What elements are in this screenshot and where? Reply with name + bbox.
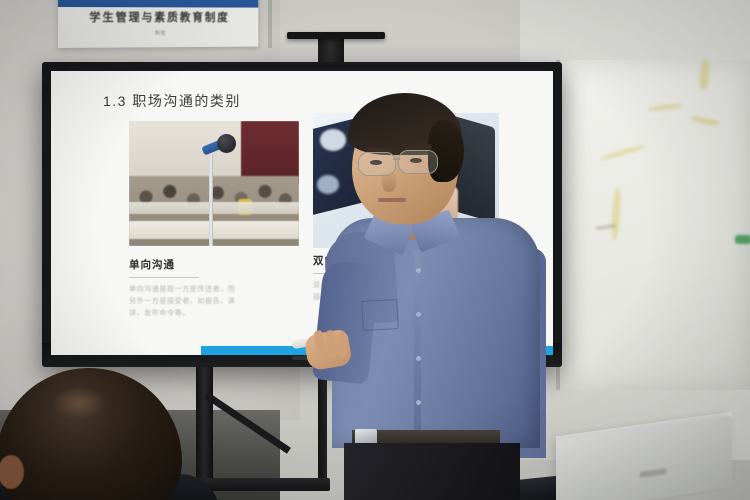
slide-accent-gap	[129, 346, 201, 355]
presenter-nose	[382, 170, 396, 192]
attendee-hair-crown	[52, 386, 106, 420]
camera-bar-icon	[287, 32, 385, 39]
caption-rule	[129, 277, 199, 278]
poster-subtitle: 制度	[58, 29, 258, 37]
poster-header-band	[58, 0, 258, 8]
presenter-mouth	[378, 198, 406, 202]
shirt-pocket	[361, 299, 399, 331]
photo-highlight	[317, 175, 339, 194]
caption-body: 单向沟通是指一方是传送者，而另外一方是接受者，如报告、演讲、发布命令等。	[129, 284, 237, 320]
slide-caption-one-way: 单向沟通 单向沟通是指一方是传送者，而另外一方是接受者，如报告、演讲、发布命令等…	[129, 257, 237, 320]
microphone-head-icon	[217, 134, 236, 153]
glasses-bridge-icon	[393, 158, 400, 160]
whiteboard-green-mark	[735, 235, 750, 244]
presenter-finger	[338, 332, 348, 358]
shirt-placket	[414, 250, 421, 436]
shirt-button	[416, 400, 421, 405]
photo-table-row	[129, 221, 299, 239]
tv-cart-leg	[318, 367, 327, 487]
shirt-button	[416, 312, 421, 317]
wall-poster: 学生管理与素质教育制度 制度	[58, 0, 258, 48]
caption-heading: 单向沟通	[129, 257, 237, 272]
presenter-trousers	[344, 443, 520, 500]
photo-scene: 学生管理与素质教育制度 制度 1.3 职场沟通的类别	[0, 0, 750, 500]
poster-edge	[268, 0, 272, 48]
shirt-button	[416, 268, 421, 273]
microphone-stand-icon	[209, 154, 213, 247]
shirt-button	[416, 356, 421, 361]
poster-title: 学生管理与素质教育制度	[58, 9, 258, 25]
slide-title: 1.3 职场沟通的类别	[103, 91, 241, 111]
glasses-lens-icon	[398, 150, 438, 174]
photo-table-row	[129, 202, 299, 213]
photo-curtain	[241, 121, 299, 184]
microphone-audience-photo	[129, 121, 299, 246]
